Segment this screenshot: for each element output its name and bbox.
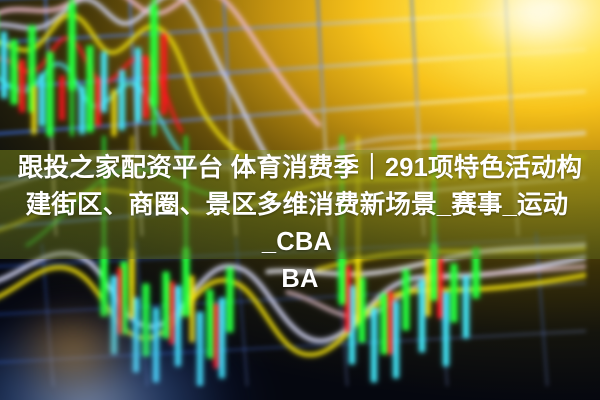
caption-line-2: 建街区、商圈、景区多维消费新场景_赛事_运动_CBA	[0, 187, 594, 261]
caption-line-3: BA	[6, 261, 594, 298]
article-thumbnail: 跟投之家配资平台 体育消费季｜291项特色活动构 建街区、商圈、景区多维消费新场…	[0, 0, 600, 400]
glow-top-right	[350, 0, 600, 132]
caption-text: 跟投之家配资平台 体育消费季｜291项特色活动构 建街区、商圈、景区多维消费新场…	[0, 150, 600, 298]
glow-bottom-left-orange	[0, 294, 162, 400]
caption-line-1: 跟投之家配资平台 体育消费季｜291项特色活动构	[6, 150, 594, 187]
